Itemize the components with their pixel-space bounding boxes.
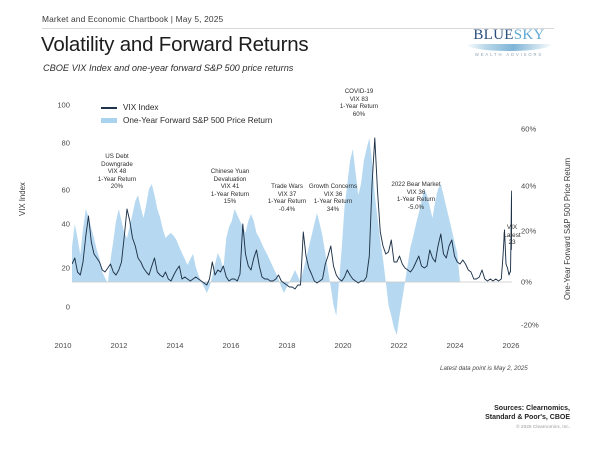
legend-item-forward-return: One-Year Forward S&P 500 Price Return xyxy=(101,114,272,127)
y-axis-tick-0: 0 xyxy=(40,303,70,312)
chart-svg xyxy=(72,97,512,336)
latest-data-point-note: Latest data point is May 2, 2025 xyxy=(440,365,528,372)
y-axis-label-left: VIX Index xyxy=(18,182,27,216)
sources-block: Sources: Clearnomics, Standard & Poor's,… xyxy=(422,404,570,430)
bluesky-logo: BLUESKY WEALTH ADVISORS xyxy=(464,28,554,54)
logo-tagline: WEALTH ADVISORS xyxy=(464,52,554,57)
annotation-line: -5.0% xyxy=(383,204,449,212)
annotation-covid-19: COVID-19 VIX 83 1-Year Return 60% xyxy=(329,88,389,118)
annotation-line: VIX 36 xyxy=(383,189,449,197)
y2-axis-tick-neg20: -20% xyxy=(521,321,555,330)
annotation-line: Growth Concerns xyxy=(303,183,363,191)
logo-swoosh-icon xyxy=(466,44,552,51)
y2-axis-tick-20: 20% xyxy=(521,227,555,236)
sources-line-1: Sources: Clearnomics, xyxy=(422,404,570,413)
annotation-line: Latest xyxy=(500,232,524,240)
legend-area-swatch-icon xyxy=(101,118,117,123)
x-axis-tick-2010: 2010 xyxy=(55,341,72,350)
annotation-line: 2022 Bear Market xyxy=(383,181,449,189)
annotation-line: 1-Year Return xyxy=(196,191,264,199)
annotation-line: 23 xyxy=(500,239,524,247)
page-subtitle: CBOE VIX Index and one-year forward S&P … xyxy=(43,63,293,73)
annotation-line: VIX 36 xyxy=(303,191,363,199)
annotation-growth-concerns: Growth Concerns VIX 36 1-Year Return 34% xyxy=(303,183,363,213)
y-axis-tick-40: 40 xyxy=(40,220,70,229)
annotation-vix-latest: VIX Latest 23 xyxy=(500,224,524,247)
page-title: Volatility and Forward Returns xyxy=(41,33,308,57)
chartbook-kicker: Market and Economic Chartbook | May 5, 2… xyxy=(42,14,223,24)
annotation-line: 20% xyxy=(86,183,148,191)
annotation-line: VIX 83 xyxy=(329,96,389,104)
logo-wordmark: BLUESKY xyxy=(464,28,554,43)
annotation-chinese-yuan-devaluation: Chinese Yuan Devaluation VIX 41 1-Year R… xyxy=(196,168,264,206)
annotation-line: VIX xyxy=(500,224,524,232)
annotation-line: Devaluation xyxy=(196,176,264,184)
y-axis-tick-20: 20 xyxy=(40,264,70,273)
x-axis-tick-2024: 2024 xyxy=(447,341,464,350)
annotation-line: VIX 48 xyxy=(86,168,148,176)
x-axis-tick-2016: 2016 xyxy=(223,341,240,350)
annotation-line: VIX 41 xyxy=(196,183,264,191)
y2-axis-tick-40: 40% xyxy=(521,182,555,191)
legend-item-vix-index: VIX Index xyxy=(101,101,272,114)
chart-page: Market and Economic Chartbook | May 5, 2… xyxy=(0,0,600,450)
x-axis-tick-2012: 2012 xyxy=(111,341,128,350)
y-axis-tick-60: 60 xyxy=(40,186,70,195)
x-axis-tick-2022: 2022 xyxy=(391,341,408,350)
annotation-line: COVID-19 xyxy=(329,88,389,96)
y-axis-tick-80: 80 xyxy=(40,139,70,148)
chart-legend: VIX Index One-Year Forward S&P 500 Price… xyxy=(101,101,272,127)
logo-word-blue: BLUE xyxy=(473,27,513,43)
y2-axis-tick-60: 60% xyxy=(521,125,555,134)
annotation-line: Downgrade xyxy=(86,161,148,169)
copyright-notice: © 2025 Clearnomics, Inc. xyxy=(422,425,570,430)
annotation-2022-bear-market: 2022 Bear Market VIX 36 1-Year Return -5… xyxy=(383,181,449,211)
x-axis-tick-2026: 2026 xyxy=(503,341,520,350)
y-axis-label-right: One-Year Forward S&P 500 Price Return xyxy=(563,158,572,300)
chart-plot-area xyxy=(72,97,512,336)
annotation-line: 60% xyxy=(329,111,389,119)
annotation-line: US Debt xyxy=(86,153,148,161)
annotation-us-debt-downgrade: US Debt Downgrade VIX 48 1-Year Return 2… xyxy=(86,153,148,191)
x-axis-tick-2020: 2020 xyxy=(335,341,352,350)
x-axis-tick-2014: 2014 xyxy=(167,341,184,350)
legend-line-swatch-icon xyxy=(101,107,117,109)
y2-axis-tick-0: 0% xyxy=(521,278,555,287)
logo-word-sky: SKY xyxy=(514,27,545,43)
annotation-line: 1-Year Return xyxy=(303,198,363,206)
legend-label-forward-return: One-Year Forward S&P 500 Price Return xyxy=(123,116,272,125)
annotation-line: Chinese Yuan xyxy=(196,168,264,176)
annotation-line: 15% xyxy=(196,198,264,206)
annotation-line: 1-Year Return xyxy=(86,176,148,184)
annotation-line: 34% xyxy=(303,206,363,214)
y-axis-tick-100: 100 xyxy=(40,101,70,110)
annotation-line: 1-Year Return xyxy=(329,103,389,111)
legend-label-vix: VIX Index xyxy=(123,103,159,112)
annotation-line: 1-Year Return xyxy=(383,196,449,204)
x-axis-tick-2018: 2018 xyxy=(279,341,296,350)
sources-line-2: Standard & Poor's, CBOE xyxy=(422,413,570,422)
